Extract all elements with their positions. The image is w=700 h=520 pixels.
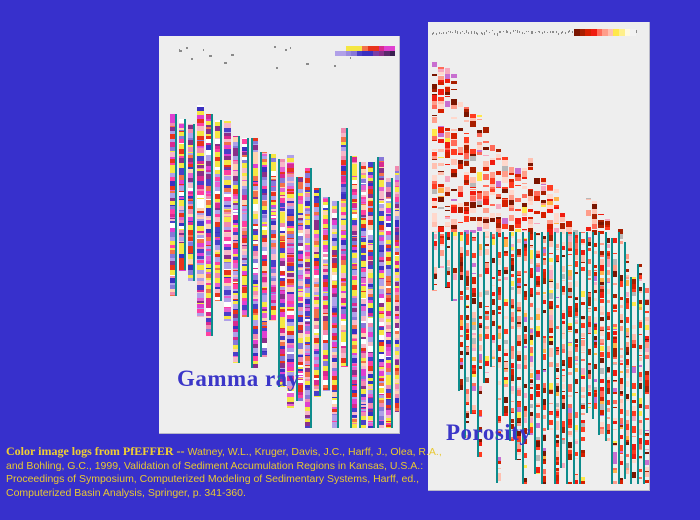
log-band	[509, 173, 514, 175]
log-band	[496, 213, 501, 216]
log-track	[534, 178, 539, 474]
caption-line-1-rest: Watney, W.L., Kruger, Davis, J.C., Harff…	[188, 446, 442, 458]
log-track	[643, 283, 648, 484]
log-band	[438, 157, 443, 158]
log-curve-trace	[547, 232, 549, 430]
log-band	[438, 89, 443, 95]
log-track	[350, 156, 357, 428]
log-curve-trace	[528, 232, 530, 435]
log-track	[197, 105, 204, 318]
tick-speck	[542, 32, 543, 34]
log-curve-trace	[175, 114, 177, 296]
log-band	[483, 199, 488, 205]
log-band	[522, 186, 527, 189]
log-band	[438, 199, 443, 202]
log-track	[314, 188, 321, 396]
log-band	[445, 226, 450, 227]
log-track	[592, 201, 597, 418]
log-band	[451, 199, 456, 201]
log-track	[554, 189, 559, 484]
log-band	[483, 185, 488, 187]
log-band	[451, 140, 456, 146]
log-track	[233, 136, 240, 363]
log-band	[432, 206, 437, 208]
log-band	[554, 207, 559, 209]
log-band	[470, 121, 475, 127]
tick-speck	[489, 32, 490, 34]
tick-speck	[334, 65, 336, 67]
log-track	[637, 264, 642, 484]
log-band	[464, 183, 469, 185]
log-track	[432, 56, 437, 290]
log-band	[477, 152, 482, 155]
log-curve-trace	[193, 124, 195, 281]
tick-speck	[565, 32, 566, 34]
log-band	[522, 194, 527, 198]
log-band	[438, 172, 443, 175]
tick-speck	[515, 30, 516, 31]
log-curve-trace	[598, 232, 600, 435]
log-curve-trace	[238, 136, 240, 363]
log-band	[534, 178, 539, 184]
log-band	[470, 187, 475, 188]
tick-speck	[448, 31, 449, 32]
log-curve-trace	[573, 232, 575, 484]
log-band	[483, 208, 488, 213]
tick-speck	[285, 49, 287, 51]
log-band	[515, 177, 520, 181]
log-band	[483, 141, 488, 143]
log-curve-trace	[605, 232, 607, 441]
log-track	[509, 151, 514, 442]
tick-speck	[224, 62, 227, 64]
log-track	[515, 168, 520, 460]
color-scale-row	[335, 51, 395, 56]
log-band	[432, 105, 437, 109]
log-band	[451, 177, 456, 178]
log-band	[509, 215, 514, 221]
tick-speck	[436, 33, 437, 35]
log-curve-trace	[579, 232, 581, 484]
caption-line-1: Color image logs from PfEFFER -- Watney,…	[6, 445, 476, 460]
log-band	[445, 92, 450, 95]
color-swatch	[630, 29, 636, 36]
log-band	[470, 189, 475, 190]
log-track	[464, 103, 469, 438]
tick-speck	[186, 47, 188, 49]
log-track	[188, 124, 195, 281]
log-band	[445, 164, 450, 165]
log-curve-trace	[522, 232, 524, 484]
log-track	[528, 152, 533, 435]
tick-speck	[535, 32, 536, 33]
log-band	[464, 112, 469, 117]
tick-speck	[556, 31, 557, 33]
log-band	[438, 72, 443, 75]
log-curve-trace	[445, 232, 447, 287]
log-curve-trace	[566, 232, 568, 484]
tick-speck	[528, 31, 529, 32]
tick-speck	[471, 31, 472, 33]
log-track	[341, 128, 348, 366]
log-curve-trace	[251, 138, 253, 368]
log-band	[534, 211, 539, 214]
color-scale-row	[574, 29, 636, 36]
log-band	[528, 167, 533, 170]
tick-speck	[486, 30, 487, 32]
log-band	[438, 139, 443, 143]
log-track	[224, 121, 231, 321]
tick-speck	[562, 31, 563, 33]
log-band	[477, 205, 482, 207]
log-band	[515, 198, 520, 202]
log-track	[630, 277, 635, 484]
gamma-ray-color-scale	[335, 46, 395, 56]
log-band	[522, 183, 527, 184]
tick-speck	[484, 32, 485, 35]
log-track	[502, 153, 507, 417]
log-track	[260, 152, 267, 357]
log-band	[547, 209, 552, 213]
log-band	[515, 209, 520, 211]
log-band	[522, 213, 527, 216]
log-band	[470, 167, 475, 173]
log-band	[560, 217, 565, 222]
log-band	[547, 190, 552, 191]
log-curve-trace	[554, 232, 556, 484]
tick-speck	[636, 30, 637, 33]
log-band	[451, 129, 456, 131]
log-band	[458, 192, 463, 197]
log-band	[534, 196, 539, 201]
log-band	[432, 62, 437, 67]
log-band	[477, 227, 482, 231]
tick-speck	[539, 31, 540, 32]
log-curve-trace	[483, 232, 485, 383]
log-band	[432, 149, 437, 151]
tick-speck	[191, 58, 193, 60]
log-band	[432, 189, 437, 194]
porosity-title: Porosity	[446, 420, 531, 446]
tick-speck	[462, 31, 463, 33]
tick-speck	[526, 31, 527, 33]
log-band	[458, 102, 463, 107]
log-band	[502, 224, 507, 229]
log-band	[502, 202, 507, 207]
log-track	[605, 219, 610, 441]
log-curve-trace	[618, 232, 620, 484]
log-band	[496, 187, 501, 188]
tick-speck	[441, 33, 442, 35]
tick-speck	[466, 30, 467, 33]
tick-speck	[276, 67, 278, 69]
log-curve-trace	[278, 159, 280, 387]
log-band	[528, 201, 533, 205]
log-curve-trace	[269, 154, 271, 320]
log-band	[477, 115, 482, 117]
log-curve-trace	[560, 232, 562, 468]
log-band	[470, 217, 475, 221]
log-band	[496, 197, 501, 199]
log-band	[598, 214, 603, 215]
tick-speck	[547, 32, 548, 34]
log-curve-trace	[328, 197, 330, 390]
log-curve-trace	[220, 120, 222, 301]
log-track	[269, 154, 276, 320]
log-band	[554, 197, 559, 201]
tick-speck	[500, 31, 501, 33]
log-curve-trace	[470, 232, 472, 414]
log-curve-trace	[432, 232, 434, 290]
log-band	[477, 119, 482, 120]
log-curve-trace	[247, 138, 249, 318]
tick-speck	[468, 32, 469, 34]
log-band	[451, 159, 456, 165]
log-band	[490, 145, 495, 151]
tick-speck	[506, 30, 507, 33]
log-band	[438, 133, 443, 137]
log-band	[554, 223, 559, 224]
log-band	[445, 128, 450, 131]
tick-speck	[290, 47, 291, 49]
log-band	[598, 225, 603, 228]
tick-speck	[494, 33, 495, 35]
log-curve-trace	[630, 277, 632, 484]
log-band	[490, 192, 495, 195]
tick-speck	[452, 32, 453, 33]
log-curve-trace	[359, 162, 361, 428]
log-band	[438, 82, 443, 85]
log-curve-trace	[643, 283, 645, 484]
caption-line-2: and Bohling, G.C., 1999, Validation of S…	[6, 460, 476, 474]
log-curve-trace	[319, 188, 321, 396]
log-band	[197, 316, 204, 318]
log-track	[215, 120, 222, 301]
log-track	[386, 178, 393, 428]
log-band	[515, 224, 520, 228]
log-band	[224, 319, 231, 321]
caption-line-4: Computerized Basin Analysis, Springer, p…	[6, 487, 476, 501]
log-band	[490, 218, 495, 222]
caption-line-3: Proceedings of Symposium, Computerized M…	[6, 473, 476, 487]
log-curve-trace	[438, 232, 440, 268]
log-track	[242, 138, 249, 318]
tick-speck	[306, 63, 309, 65]
log-track	[179, 119, 186, 270]
log-band	[470, 156, 475, 161]
log-track	[206, 114, 213, 336]
tick-speck	[203, 49, 204, 51]
color-swatch	[390, 51, 395, 56]
log-band	[445, 96, 450, 97]
log-band	[534, 223, 539, 224]
log-track	[624, 242, 629, 479]
tick-speck	[532, 31, 533, 34]
tick-speck	[553, 31, 554, 33]
log-band	[451, 207, 456, 213]
tick-speck	[460, 32, 461, 34]
log-track	[470, 114, 475, 414]
log-curve-trace	[586, 232, 588, 413]
log-curve-trace	[464, 232, 466, 438]
tick-speck	[558, 33, 559, 35]
log-band	[445, 217, 450, 219]
tick-speck	[569, 30, 570, 32]
log-curve-trace	[451, 232, 453, 301]
log-band	[432, 115, 437, 116]
tick-speck	[524, 33, 525, 35]
log-track	[618, 229, 623, 484]
log-curve-trace	[211, 114, 213, 336]
log-band	[451, 149, 456, 155]
log-band	[496, 149, 501, 152]
tick-speck	[231, 54, 234, 56]
log-band	[451, 189, 456, 191]
caption-lead: Color image logs from PfEFFER --	[6, 444, 188, 458]
log-curve-trace	[534, 232, 536, 474]
tick-speck	[507, 31, 508, 32]
log-band	[522, 217, 527, 221]
log-band	[483, 167, 488, 171]
log-band	[438, 149, 443, 152]
log-track	[323, 197, 330, 390]
log-band	[432, 89, 437, 92]
log-band	[483, 155, 488, 156]
log-band	[458, 153, 463, 155]
log-band	[451, 117, 456, 119]
log-curve-trace	[490, 232, 492, 367]
log-band	[490, 204, 495, 206]
log-band	[438, 207, 443, 209]
tick-speck	[474, 31, 475, 34]
log-band	[458, 128, 463, 131]
log-track	[377, 157, 384, 428]
log-band	[586, 210, 591, 216]
log-band	[432, 159, 437, 160]
log-track	[579, 228, 584, 484]
tick-speck	[510, 32, 511, 34]
tick-speck	[544, 31, 545, 33]
log-track	[395, 166, 399, 412]
log-track	[541, 178, 546, 484]
tick-speck	[503, 31, 504, 32]
tick-speck	[209, 55, 212, 57]
log-track	[359, 162, 366, 428]
log-band	[464, 161, 469, 166]
log-band	[451, 105, 456, 109]
log-band	[522, 177, 527, 179]
log-curve-trace	[611, 238, 613, 484]
log-track	[477, 115, 482, 457]
log-track	[483, 122, 488, 383]
tick-speck	[572, 31, 573, 33]
log-band	[483, 127, 488, 133]
log-curve-trace	[391, 178, 393, 428]
caption-block: Color image logs from PfEFFER -- Watney,…	[6, 445, 476, 500]
log-track	[170, 114, 177, 296]
log-curve-trace	[541, 232, 543, 484]
log-curve-trace	[458, 232, 460, 391]
log-band	[464, 120, 469, 122]
log-band	[509, 182, 514, 188]
log-curve-trace	[373, 162, 375, 428]
log-band	[502, 189, 507, 193]
tick-speck	[446, 32, 447, 34]
log-band	[509, 225, 514, 231]
log-band	[287, 406, 294, 409]
log-band	[432, 117, 437, 123]
log-curve-trace	[350, 156, 352, 428]
log-band	[515, 185, 520, 186]
log-band	[458, 164, 463, 169]
log-band	[464, 216, 469, 222]
log-curve-trace	[310, 168, 312, 428]
log-band	[451, 89, 456, 90]
log-band	[451, 77, 456, 78]
log-band	[477, 177, 482, 181]
log-band	[502, 177, 507, 183]
log-track	[438, 62, 443, 268]
log-band	[509, 208, 514, 211]
log-band	[592, 224, 597, 229]
gamma-ray-title: Gamma ray	[177, 366, 300, 392]
log-track	[445, 68, 450, 287]
log-band	[586, 227, 591, 231]
log-curve-trace	[509, 232, 511, 441]
log-band	[458, 222, 463, 223]
tick-speck	[522, 32, 523, 34]
tick-speck	[457, 31, 458, 33]
log-track	[458, 102, 463, 391]
log-band	[522, 230, 527, 231]
log-band	[445, 101, 450, 107]
log-track	[368, 162, 375, 428]
log-band	[445, 79, 450, 83]
log-band	[483, 147, 488, 150]
log-band	[432, 163, 437, 169]
tick-speck	[492, 30, 493, 31]
log-band	[541, 191, 546, 195]
log-track	[451, 74, 456, 301]
tick-speck	[439, 32, 440, 34]
log-band	[496, 158, 501, 160]
tick-speck	[433, 32, 434, 34]
log-track	[598, 211, 603, 436]
log-band	[477, 133, 482, 137]
tick-speck	[497, 33, 498, 36]
log-curve-trace	[346, 128, 348, 366]
log-band	[451, 81, 456, 84]
slide-canvas: Gamma ray Porosity Color image logs from…	[0, 0, 700, 520]
log-band	[490, 160, 495, 165]
log-band	[554, 189, 559, 193]
log-band	[445, 192, 450, 196]
log-band	[528, 209, 533, 212]
log-track	[332, 201, 339, 428]
log-band	[483, 174, 488, 180]
log-band	[464, 133, 469, 134]
log-track	[566, 215, 571, 484]
tick-speck	[274, 46, 276, 48]
log-track	[586, 198, 591, 414]
log-band	[395, 411, 399, 412]
log-track	[278, 159, 285, 387]
log-band	[496, 171, 501, 175]
log-curve-trace	[184, 119, 186, 270]
log-band	[445, 152, 450, 158]
log-track	[547, 180, 552, 430]
log-band	[432, 140, 437, 141]
